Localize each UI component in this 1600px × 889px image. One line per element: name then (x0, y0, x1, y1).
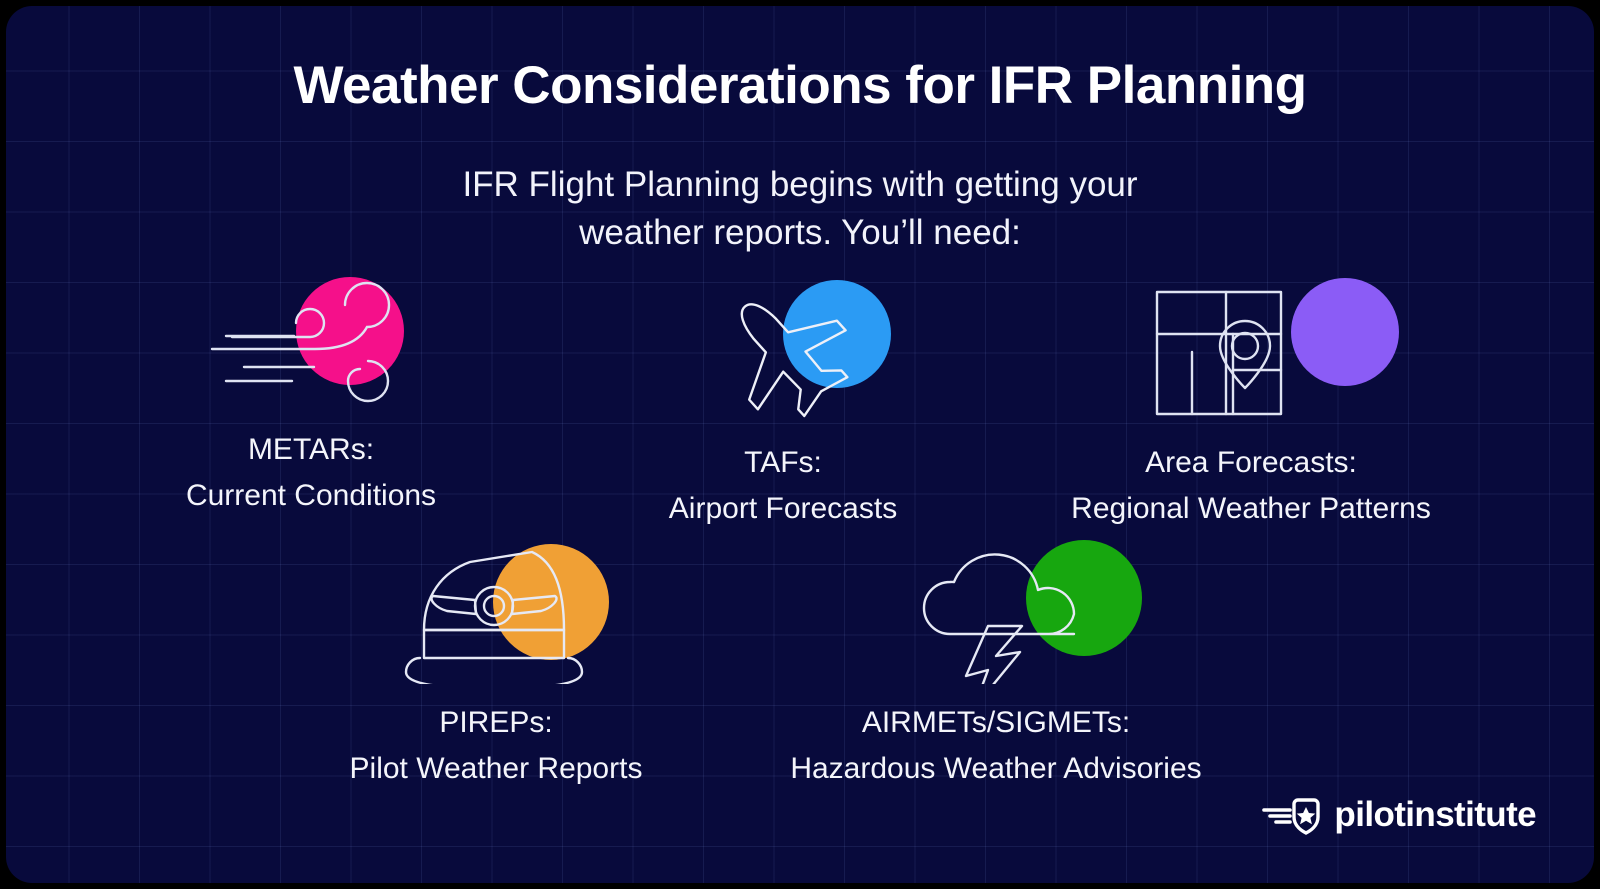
pireps-label: PIREPs: Pilot Weather Reports (291, 700, 701, 791)
item-area-forecasts: Area Forecasts: Regional Weather Pattern… (1006, 274, 1496, 531)
area-forecasts-label: Area Forecasts: Regional Weather Pattern… (1006, 440, 1496, 531)
airmets-label: AIRMETs/SIGMETs: Hazardous Weather Advis… (706, 700, 1286, 791)
pireps-icon-group (291, 534, 701, 684)
brand-logo: pilotinstitute (1262, 795, 1536, 835)
item-airmets-sigmets: AIRMETs/SIGMETs: Hazardous Weather Advis… (706, 534, 1286, 791)
wind-icon (196, 261, 426, 411)
winged-shield-star-icon (1262, 795, 1324, 835)
pilot-cap-icon (376, 534, 616, 684)
storm-cloud-icon (876, 534, 1116, 684)
map-pin-icon (1136, 274, 1366, 424)
item-pireps: PIREPs: Pilot Weather Reports (291, 534, 701, 791)
logo-text: pilotinstitute (1334, 795, 1536, 835)
item-metars: METARs: Current Conditions (106, 261, 516, 518)
page-title: Weather Considerations for IFR Planning (6, 54, 1594, 118)
airplane-icon (668, 274, 898, 424)
infographic-content: Weather Considerations for IFR Planning … (6, 6, 1594, 883)
area-forecasts-icon-group (1006, 274, 1496, 424)
item-tafs: TAFs: Airport Forecasts (598, 274, 968, 531)
page-subtitle: IFR Flight Planning begins with getting … (6, 161, 1594, 258)
tafs-label: TAFs: Airport Forecasts (598, 440, 968, 531)
airmets-icon-group (706, 534, 1286, 684)
metars-icon-group (106, 261, 516, 411)
tafs-icon-group (598, 274, 968, 424)
metars-label: METARs: Current Conditions (106, 427, 516, 518)
infographic-card: Weather Considerations for IFR Planning … (6, 6, 1594, 883)
